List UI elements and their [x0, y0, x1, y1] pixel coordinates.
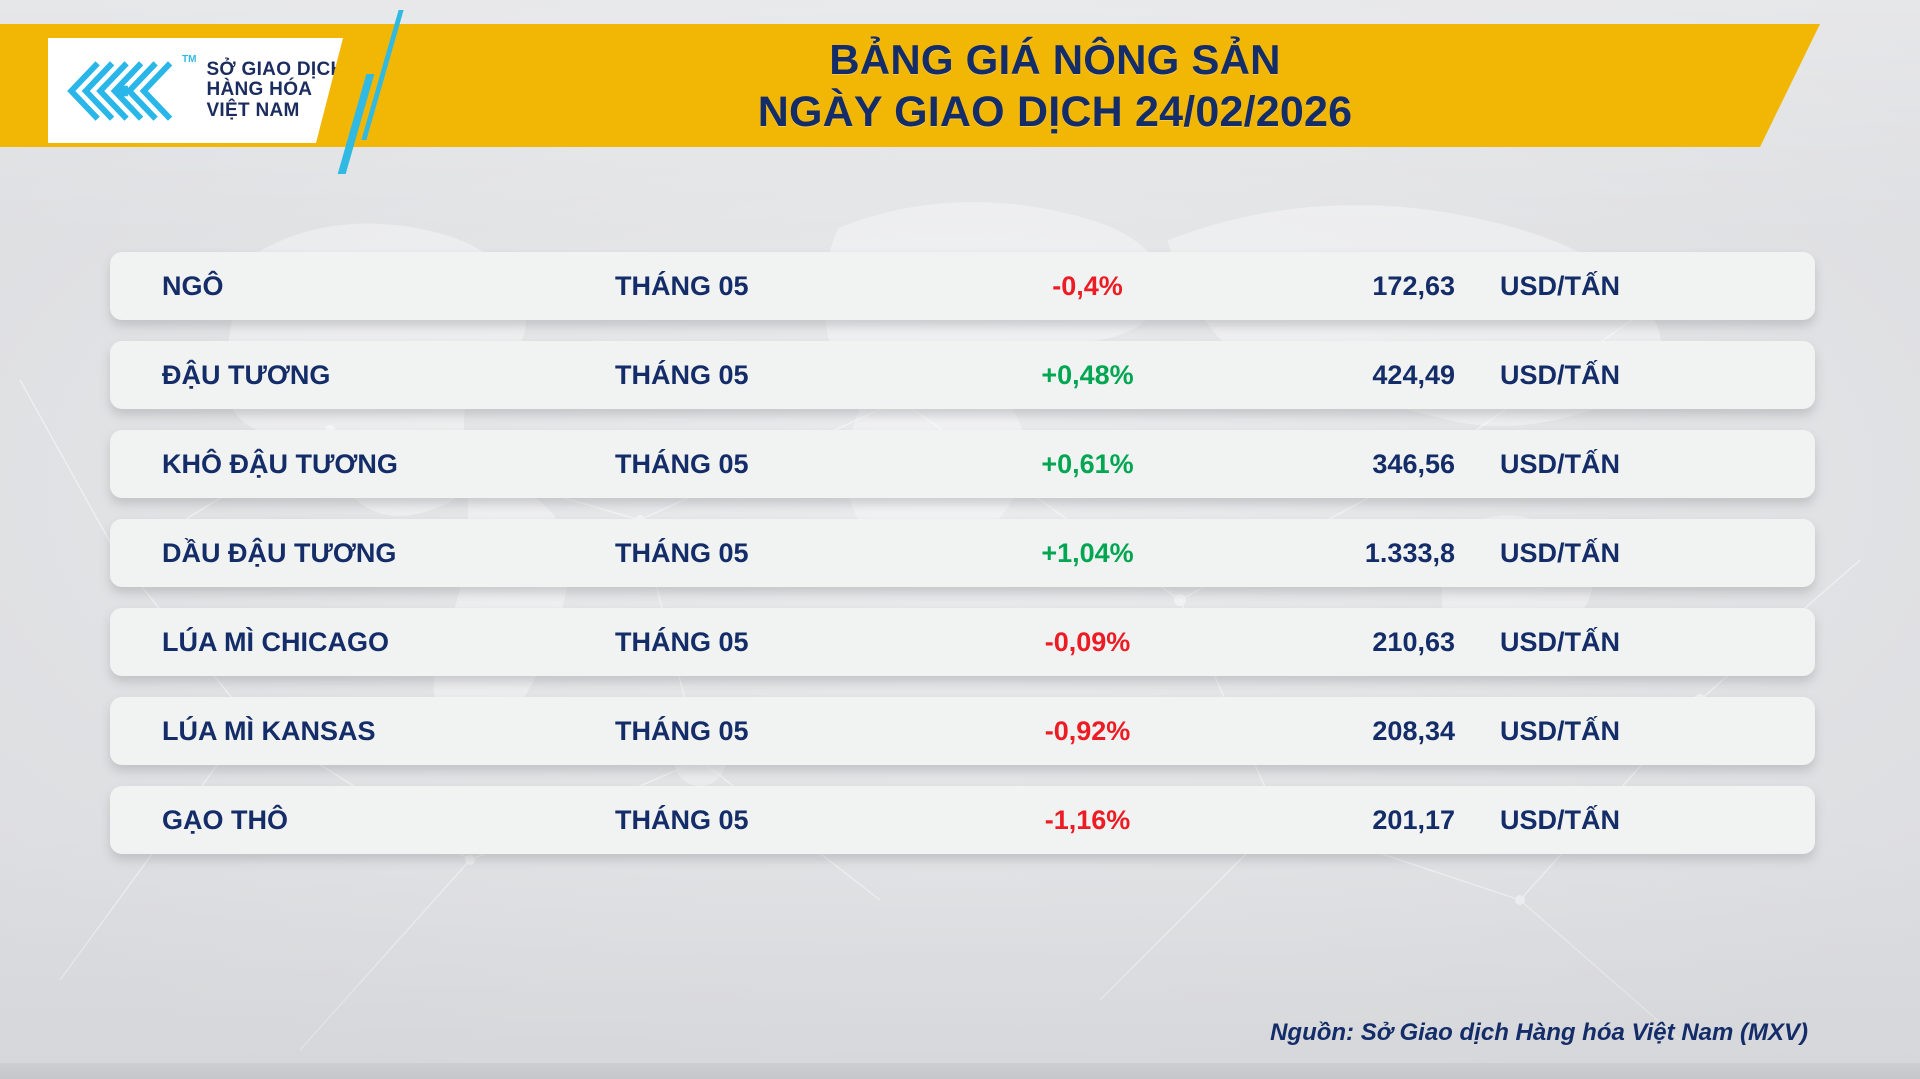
price-table: NGÔTHÁNG 05-0,4%172,63USD/TẤNĐẬU TƯƠNGTH… [110, 252, 1815, 875]
change-percent: +0,61% [985, 449, 1190, 480]
page-header: BẢNG GIÁ NÔNG SẢN NGÀY GIAO DỊCH 24/02/2… [0, 0, 1920, 168]
price-value: 346,56 [1230, 449, 1455, 480]
commodity-name: NGÔ [162, 271, 224, 302]
price-unit: USD/TẤN [1500, 538, 1620, 569]
page-title: BẢNG GIÁ NÔNG SẢN [829, 35, 1280, 85]
commodity-name: LÚA MÌ CHICAGO [162, 627, 389, 658]
table-row[interactable]: DẦU ĐẬU TƯƠNGTHÁNG 05+1,04%1.333,8USD/TẤ… [110, 519, 1815, 587]
commodity-name: KHÔ ĐẬU TƯƠNG [162, 449, 398, 480]
price-unit: USD/TẤN [1500, 271, 1620, 302]
price-value: 172,63 [1230, 271, 1455, 302]
change-percent: -0,92% [985, 716, 1190, 747]
price-unit: USD/TẤN [1500, 716, 1620, 747]
price-value: 210,63 [1230, 627, 1455, 658]
commodity-name: LÚA MÌ KANSAS [162, 716, 376, 747]
contract-month: THÁNG 05 [615, 271, 749, 302]
table-row[interactable]: NGÔTHÁNG 05-0,4%172,63USD/TẤN [110, 252, 1815, 320]
price-value: 201,17 [1230, 805, 1455, 836]
change-percent: -0,4% [985, 271, 1190, 302]
trademark-icon: TM [182, 54, 196, 65]
change-percent: +1,04% [985, 538, 1190, 569]
commodity-name: GẠO THÔ [162, 805, 288, 836]
change-percent: -1,16% [985, 805, 1190, 836]
table-row[interactable]: ĐẬU TƯƠNGTHÁNG 05+0,48%424,49USD/TẤN [110, 341, 1815, 409]
contract-month: THÁNG 05 [615, 716, 749, 747]
price-unit: USD/TẤN [1500, 449, 1620, 480]
price-unit: USD/TẤN [1500, 627, 1620, 658]
contract-month: THÁNG 05 [615, 449, 749, 480]
table-row[interactable]: KHÔ ĐẬU TƯƠNGTHÁNG 05+0,61%346,56USD/TẤN [110, 430, 1815, 498]
contract-month: THÁNG 05 [615, 627, 749, 658]
contract-month: THÁNG 05 [615, 360, 749, 391]
logo-text: SỞ GIAO DỊCH HÀNG HÓA VIỆT NAM [206, 60, 344, 120]
price-value: 208,34 [1230, 716, 1455, 747]
change-percent: +0,48% [985, 360, 1190, 391]
price-unit: USD/TẤN [1500, 805, 1620, 836]
commodity-name: DẦU ĐẬU TƯƠNG [162, 538, 396, 569]
table-row[interactable]: LÚA MÌ CHICAGOTHÁNG 05-0,09%210,63USD/TẤ… [110, 608, 1815, 676]
logo-line-1: SỞ GIAO DỊCH [206, 60, 344, 80]
price-value: 1.333,8 [1230, 538, 1455, 569]
price-unit: USD/TẤN [1500, 360, 1620, 391]
logo: TM SỞ GIAO DỊCH HÀNG HÓA VIỆT NAM [48, 38, 343, 143]
contract-month: THÁNG 05 [615, 538, 749, 569]
table-row[interactable]: GẠO THÔTHÁNG 05-1,16%201,17USD/TẤN [110, 786, 1815, 854]
page-subtitle-date: NGÀY GIAO DỊCH 24/02/2026 [758, 87, 1353, 137]
change-percent: -0,09% [985, 627, 1190, 658]
contract-month: THÁNG 05 [615, 805, 749, 836]
source-note: Nguồn: Sở Giao dịch Hàng hóa Việt Nam (M… [1270, 1019, 1808, 1047]
mxv-logo-icon [66, 58, 178, 124]
bottom-bar [0, 1063, 1920, 1079]
logo-line-2: HÀNG HÓA [206, 80, 344, 100]
commodity-name: ĐẬU TƯƠNG [162, 360, 330, 391]
title-block: BẢNG GIÁ NÔNG SẢN NGÀY GIAO DỊCH 24/02/2… [430, 24, 1680, 147]
table-row[interactable]: LÚA MÌ KANSASTHÁNG 05-0,92%208,34USD/TẤN [110, 697, 1815, 765]
price-value: 424,49 [1230, 360, 1455, 391]
